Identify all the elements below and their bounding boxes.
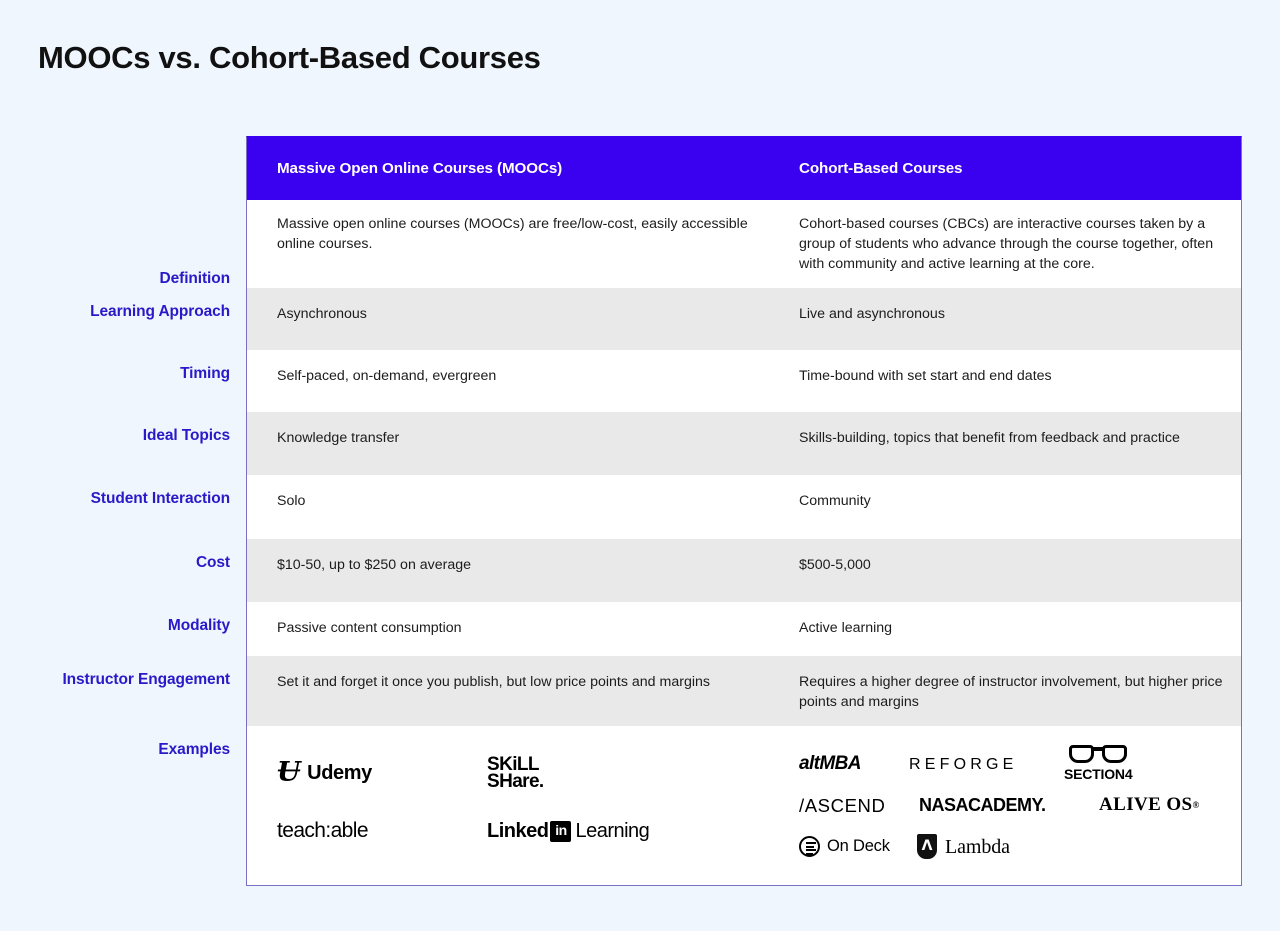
cell-student-interaction-cbc: Community bbox=[773, 475, 1241, 539]
glasses-icon bbox=[1069, 745, 1127, 764]
table-header-row: Massive Open Online Courses (MOOCs) Coho… bbox=[38, 136, 1242, 200]
row-cells: Self-paced, on-demand, evergreen Time-bo… bbox=[246, 350, 1242, 412]
table-row: Timing Self-paced, on-demand, evergreen … bbox=[38, 350, 1242, 412]
linkedin-learning-logo[interactable]: LinkedinLearning bbox=[487, 817, 649, 845]
cell-learning-approach-moocs: Asynchronous bbox=[247, 288, 773, 350]
header-gutter-spacer bbox=[38, 136, 246, 155]
row-cells: Set it and forget it once you publish, b… bbox=[246, 656, 1242, 726]
cell-definition-moocs: Massive open online courses (MOOCs) are … bbox=[247, 200, 773, 288]
cell-learning-approach-cbc: Live and asynchronous bbox=[773, 288, 1241, 350]
cbc-logo-grid: altMBA REFORGE SECTION4 bbox=[799, 744, 1229, 867]
logo-slot: /ASCEND bbox=[799, 785, 919, 826]
nasacademy-logo[interactable]: NASACADEMY. bbox=[919, 793, 1046, 819]
section4-logo-text: SECTION4 bbox=[1064, 765, 1132, 785]
table-row: Learning Approach Asynchronous Live and … bbox=[38, 288, 1242, 350]
row-label-ideal-topics: Ideal Topics bbox=[38, 412, 246, 445]
ascend-logo[interactable]: /ASCEND bbox=[799, 793, 885, 819]
logo-slot: Ʉ Udemy bbox=[277, 744, 487, 802]
udemy-mark-icon: Ʉ bbox=[277, 759, 300, 786]
mooc-logo-grid: Ʉ Udemy SKiLL SHare. teach:able bbox=[277, 744, 761, 860]
header-cells: Massive Open Online Courses (MOOCs) Coho… bbox=[246, 136, 1242, 200]
ondeck-logo[interactable]: On Deck bbox=[799, 835, 890, 858]
logo-slot: SECTION4 bbox=[1064, 744, 1164, 785]
row-cells: Ʉ Udemy SKiLL SHare. teach:able bbox=[246, 726, 1242, 886]
page-root: MOOCs vs. Cohort-Based Courses Massive O… bbox=[0, 0, 1280, 931]
aliveos-logo[interactable]: ALIVE OS® bbox=[1099, 792, 1200, 819]
row-cells: Asynchronous Live and asynchronous bbox=[246, 288, 1242, 350]
table-row: Cost $10-50, up to $250 on average $500-… bbox=[38, 539, 1242, 602]
row-cells: Passive content consumption Active learn… bbox=[246, 602, 1242, 656]
cell-examples-moocs: Ʉ Udemy SKiLL SHare. teach:able bbox=[247, 726, 773, 885]
cell-modality-cbc: Active learning bbox=[773, 602, 1241, 656]
cell-definition-cbc: Cohort-based courses (CBCs) are interact… bbox=[773, 200, 1241, 288]
row-label-modality: Modality bbox=[38, 602, 246, 635]
altmba-logo[interactable]: altMBA bbox=[799, 751, 861, 778]
table-row: Student Interaction Solo Community bbox=[38, 475, 1242, 539]
aliveos-logo-text: ALIVE OS bbox=[1099, 792, 1192, 819]
table-row: Instructor Engagement Set it and forget … bbox=[38, 656, 1242, 726]
cell-ideal-topics-cbc: Skills-building, topics that benefit fro… bbox=[773, 412, 1241, 475]
row-label-definition: Definition bbox=[38, 200, 246, 288]
cell-student-interaction-moocs: Solo bbox=[247, 475, 773, 539]
row-label-examples: Examples bbox=[38, 726, 246, 759]
row-cells: Massive open online courses (MOOCs) are … bbox=[246, 200, 1242, 288]
udemy-logo[interactable]: Ʉ Udemy bbox=[277, 759, 372, 787]
table-row: Ideal Topics Knowledge transfer Skills-b… bbox=[38, 412, 1242, 475]
section4-logo[interactable]: SECTION4 bbox=[1064, 745, 1132, 785]
table-row: Definition Massive open online courses (… bbox=[38, 200, 1242, 288]
row-cells: Knowledge transfer Skills-building, topi… bbox=[246, 412, 1242, 475]
column-header-cbc: Cohort-Based Courses bbox=[773, 137, 1241, 200]
registered-trademark-icon: ® bbox=[1192, 799, 1199, 812]
logo-slot: altMBA bbox=[799, 744, 909, 785]
skillshare-line2: SHare. bbox=[487, 773, 544, 790]
logo-slot: NASACADEMY. bbox=[919, 785, 1099, 826]
row-cells: $10-50, up to $250 on average $500-5,000 bbox=[246, 539, 1242, 602]
row-label-timing: Timing bbox=[38, 350, 246, 383]
logo-slot: LinkedinLearning bbox=[487, 802, 697, 860]
cell-instructor-engagement-moocs: Set it and forget it once you publish, b… bbox=[247, 656, 773, 726]
table-row: Modality Passive content consumption Act… bbox=[38, 602, 1242, 656]
linkedin-in-badge-icon: in bbox=[550, 821, 571, 842]
linkedin-wordmark: Linked bbox=[487, 817, 548, 845]
udemy-logo-text: Udemy bbox=[307, 759, 372, 787]
logo-slot: REFORGE bbox=[909, 744, 1064, 785]
row-cells: Solo Community bbox=[246, 475, 1242, 539]
cell-timing-cbc: Time-bound with set start and end dates bbox=[773, 350, 1241, 412]
ondeck-logo-text: On Deck bbox=[827, 835, 890, 858]
cell-cost-moocs: $10-50, up to $250 on average bbox=[247, 539, 773, 602]
cell-cost-cbc: $500-5,000 bbox=[773, 539, 1241, 602]
skillshare-logo[interactable]: SKiLL SHare. bbox=[487, 756, 544, 791]
lambda-shield-icon: Λ bbox=[917, 834, 937, 859]
logo-slot: On Deck bbox=[799, 826, 917, 867]
cell-instructor-engagement-cbc: Requires a higher degree of instructor i… bbox=[773, 656, 1241, 726]
row-label-student-interaction: Student Interaction bbox=[38, 475, 246, 508]
ondeck-circle-icon bbox=[799, 836, 820, 857]
lambda-logo[interactable]: Λ Lambda bbox=[917, 833, 1010, 861]
row-label-cost: Cost bbox=[38, 539, 246, 572]
comparison-table: Massive Open Online Courses (MOOCs) Coho… bbox=[38, 136, 1242, 886]
teachable-logo[interactable]: teach:able bbox=[277, 816, 368, 846]
row-label-instructor-engagement: Instructor Engagement bbox=[38, 656, 246, 689]
page-title: MOOCs vs. Cohort-Based Courses bbox=[38, 40, 541, 76]
logo-slot: Λ Lambda bbox=[917, 826, 1037, 867]
column-header-moocs: Massive Open Online Courses (MOOCs) bbox=[247, 137, 773, 200]
cell-modality-moocs: Passive content consumption bbox=[247, 602, 773, 656]
cell-timing-moocs: Self-paced, on-demand, evergreen bbox=[247, 350, 773, 412]
row-label-learning-approach: Learning Approach bbox=[38, 288, 246, 321]
linkedin-learning-text: Learning bbox=[575, 817, 649, 845]
lambda-logo-text: Lambda bbox=[945, 833, 1010, 861]
logo-slot: ALIVE OS® bbox=[1099, 785, 1209, 826]
cell-ideal-topics-moocs: Knowledge transfer bbox=[247, 412, 773, 475]
table-row: Examples Ʉ Udemy SKiLL bbox=[38, 726, 1242, 886]
cell-examples-cbc: altMBA REFORGE SECTION4 bbox=[773, 726, 1241, 885]
reforge-logo[interactable]: REFORGE bbox=[909, 754, 1018, 777]
logo-slot: SKiLL SHare. bbox=[487, 744, 697, 802]
logo-slot: teach:able bbox=[277, 802, 487, 860]
